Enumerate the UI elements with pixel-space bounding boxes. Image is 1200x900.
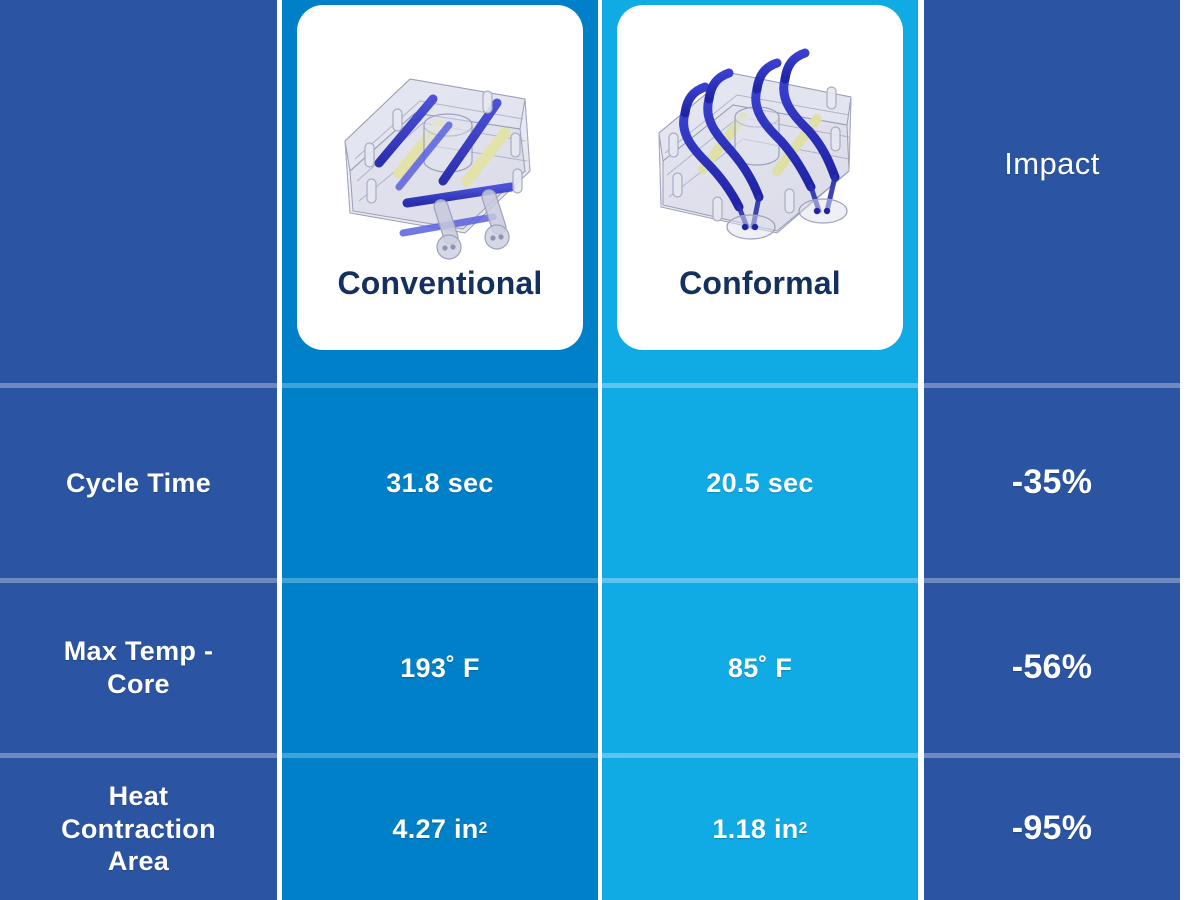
conventional-mold-3d-icon xyxy=(315,21,565,271)
header-label-cell xyxy=(0,0,277,383)
row-label-heat-contraction-area: Heat Contraction Area xyxy=(0,758,277,900)
conformal-mold-3d-icon xyxy=(635,21,885,271)
degree-symbol-icon: ˚ xyxy=(759,652,768,684)
comparison-table: Conventional xyxy=(0,0,1200,900)
row-label-max-temp-line2: Core xyxy=(64,668,214,701)
conventional-card-label: Conventional xyxy=(337,265,542,302)
degree-symbol-icon: ˚ xyxy=(446,652,455,684)
row1-impact-value: -35% xyxy=(924,388,1180,578)
header-conventional-cell: Conventional xyxy=(282,0,598,383)
header-conformal-cell: Conformal xyxy=(602,0,918,383)
row2-conventional-unit: F xyxy=(463,652,480,684)
row2-conformal-value: 85˚ F xyxy=(602,583,918,753)
row3-conventional-value: 4.27 in2 xyxy=(282,758,598,900)
row-label-heat-line1: Heat xyxy=(61,780,216,813)
row3-conformal-number: 1.18 in xyxy=(712,813,798,845)
row2-conformal-number: 85 xyxy=(728,652,759,684)
row2-conformal-unit: F xyxy=(775,652,792,684)
conformal-card[interactable]: Conformal xyxy=(617,5,903,350)
row3-impact-value: -95% xyxy=(924,758,1180,900)
header-impact-cell: Impact xyxy=(924,0,1180,383)
conventional-card[interactable]: Conventional xyxy=(297,5,583,350)
row-label-heat-line3: Area xyxy=(61,845,216,878)
row3-conformal-value: 1.18 in2 xyxy=(602,758,918,900)
row2-conventional-number: 193 xyxy=(400,652,446,684)
row1-conventional-value: 31.8 sec xyxy=(282,388,598,578)
row-label-max-temp-line1: Max Temp - xyxy=(64,635,214,668)
row-label-heat-line2: Contraction xyxy=(61,813,216,846)
row-label-max-temp-core: Max Temp - Core xyxy=(0,583,277,753)
row1-conformal-value: 20.5 sec xyxy=(602,388,918,578)
conformal-card-label: Conformal xyxy=(679,265,841,302)
row2-conventional-value: 193˚ F xyxy=(282,583,598,753)
row2-impact-value: -56% xyxy=(924,583,1180,753)
row3-conventional-number: 4.27 in xyxy=(392,813,478,845)
row-label-cycle-time: Cycle Time xyxy=(0,388,277,578)
